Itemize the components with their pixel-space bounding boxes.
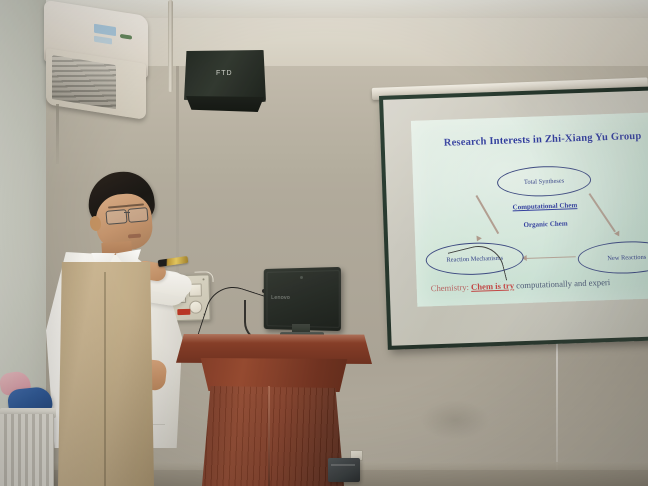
laser-pointer bbox=[158, 256, 189, 267]
monitor-brand-logo: Lenovo bbox=[271, 295, 290, 301]
trouser-seam bbox=[104, 272, 106, 486]
podium-top-highlight bbox=[176, 334, 372, 343]
ac-louver-shade bbox=[52, 55, 116, 109]
ac-indicator-led bbox=[120, 34, 132, 40]
air-conditioner bbox=[44, 0, 148, 134]
glasses-right-lens bbox=[127, 207, 148, 223]
projected-slide: Research Interests in Zhi-Xiang Yu Group… bbox=[411, 112, 648, 307]
monitor-back-panel: Lenovo bbox=[264, 267, 341, 331]
presenter-trousers bbox=[58, 262, 154, 486]
desktop-monitor: Lenovo bbox=[262, 268, 340, 340]
wall-stain bbox=[420, 400, 490, 440]
ac-sticker-2 bbox=[94, 36, 112, 45]
equipment-box-vent bbox=[331, 464, 355, 466]
wall-speaker: FTD bbox=[184, 50, 266, 113]
screen-surface: Research Interests in Zhi-Xiang Yu Group… bbox=[383, 90, 648, 345]
podium-front-edge bbox=[268, 386, 270, 486]
podium-column bbox=[202, 386, 344, 486]
equipment-box bbox=[328, 458, 360, 482]
glasses-bridge bbox=[124, 212, 130, 213]
ac-drain-hose bbox=[56, 104, 59, 164]
wood-grain bbox=[202, 386, 344, 486]
wall-pipe bbox=[168, 0, 173, 92]
projection-screen: Research Interests in Zhi-Xiang Yu Group… bbox=[379, 87, 648, 350]
speaker-underside bbox=[186, 96, 264, 112]
monitor-mount-point bbox=[300, 276, 303, 279]
lecture-room-photo: FTD Research Interests in Zhi-Xiang Yu G… bbox=[0, 0, 648, 486]
radiator bbox=[0, 414, 54, 486]
speaker-logo: FTD bbox=[216, 70, 238, 77]
ac-sticker bbox=[94, 24, 116, 36]
